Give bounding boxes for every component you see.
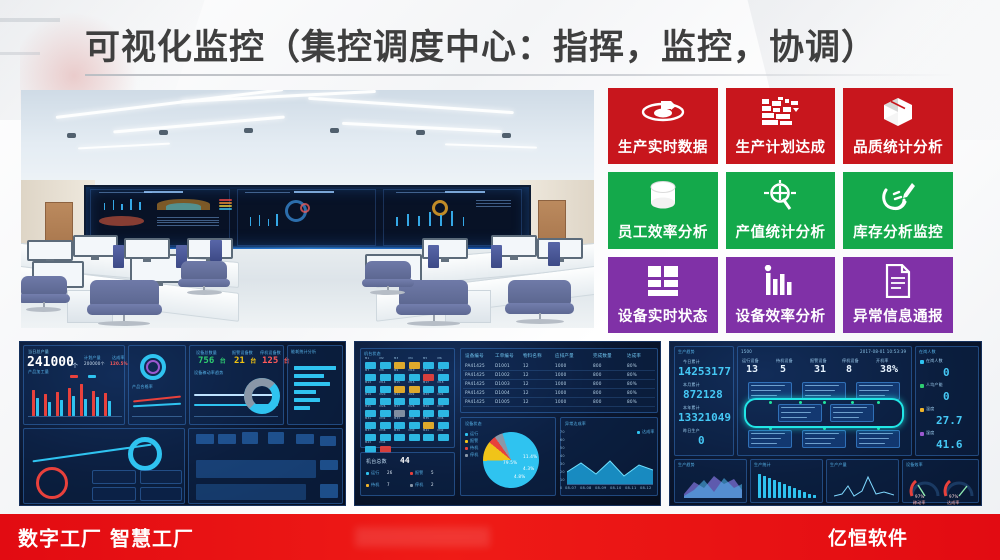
top-metric-value: 38%: [880, 364, 898, 375]
top-metric-value: 5: [780, 364, 786, 375]
machine-status-cell-label: M17: [423, 381, 429, 384]
pie-slice-label: 4.3%: [523, 466, 534, 471]
output-unit: 个: [72, 361, 78, 370]
machine-status-cell-label: M42: [438, 429, 444, 432]
tile-equipment-efficiency-analysis[interactable]: 设备效率分析: [726, 257, 836, 333]
table-row-divider: [463, 397, 655, 398]
machine-status-cell-label: M19: [365, 393, 371, 396]
ceiling-speaker: [159, 130, 168, 135]
pie-legend-swatch: [465, 454, 468, 457]
kpi-label-2: 停机设备数: [260, 350, 281, 356]
mini-bar: [798, 490, 801, 498]
machine-status-cell[interactable]: [394, 386, 405, 393]
dash3-timestamp: 2017-08-01 10:53:39: [860, 349, 906, 354]
legend-value-3: 2: [431, 482, 434, 487]
machine-status-cell-label: M22: [409, 393, 415, 396]
machine-status-cell[interactable]: [380, 386, 391, 393]
machine-status-cell-label: M34: [409, 417, 415, 420]
monitor: [124, 238, 170, 259]
machine-status-cell-label: M44: [380, 441, 386, 444]
machine-status-dashboard: 机台状态 M1M2M3M4M5M6M7M8M9M10M11M12M13M14M1…: [354, 341, 661, 506]
machine-status-cell-label: M18: [438, 381, 444, 384]
chart-title-1: 生产统计: [754, 462, 771, 468]
left-panel-title: 生产趋势: [678, 349, 695, 355]
monitor: [73, 235, 119, 256]
mini-bar: [773, 480, 776, 498]
mini-bar: [803, 492, 806, 498]
area-chart-svg: [567, 454, 653, 484]
machine-status-cell-label: M2: [380, 357, 384, 360]
chart-title-3: 设备效率: [906, 462, 923, 468]
area-y-tick: 10: [560, 478, 565, 482]
office-chair: [90, 280, 159, 323]
left-metric-value-3: 0: [698, 434, 705, 447]
machine-status-cell-label: M28: [409, 405, 415, 408]
machine-status-cell-label: M39: [394, 429, 400, 432]
machine-status-cell-label: M38: [380, 429, 386, 432]
table-cell: 12: [523, 363, 529, 368]
machine-status-cell-label: M43: [365, 441, 371, 444]
machine-status-cell-label: M6: [438, 357, 442, 360]
office-chair: [508, 280, 571, 320]
left-metric-value-1: 872128: [683, 388, 723, 401]
machine-status-cell[interactable]: [394, 422, 405, 429]
area-y-tick: 70: [560, 430, 565, 434]
table-cell: PA41425: [465, 381, 485, 386]
area-title: 异常达成率: [565, 421, 586, 427]
machine-status-cell[interactable]: [394, 362, 405, 369]
area-y-tick: 60: [560, 438, 565, 442]
title-underline: [85, 74, 955, 76]
mini-bar: [783, 484, 786, 498]
machine-status-cell-label: M29: [423, 405, 429, 408]
left-metric-value-0: 14253177: [678, 365, 731, 378]
area-legend: 达成率: [642, 429, 655, 435]
machine-status-cell[interactable]: [365, 362, 376, 369]
tile-abnormal-info-notification[interactable]: 异常信息通报: [843, 257, 953, 333]
bar-chart-icon: [726, 257, 836, 305]
brick-blocks-icon: [726, 88, 836, 136]
table-cell: 80%: [627, 372, 637, 377]
machine-status-cell[interactable]: [438, 398, 449, 405]
monitor: [27, 240, 73, 261]
area-y-tick: 40: [560, 454, 565, 458]
table-cell: 1000: [555, 381, 566, 386]
desk-divider: [491, 245, 502, 269]
mini-bar: [793, 488, 796, 498]
machine-status-cell[interactable]: [423, 422, 434, 429]
desk-divider: [428, 245, 439, 269]
table-header-cell: 应排产量: [555, 353, 574, 359]
mini-bar: [778, 482, 781, 498]
machine-status-cell-label: M3: [394, 357, 398, 360]
table-cell: 12: [523, 381, 529, 386]
tile-label: 设备实时状态: [618, 305, 708, 326]
pie-slice-label: 79.5%: [503, 460, 517, 465]
tile-quality-statistics-analysis[interactable]: 品质统计分析: [843, 88, 953, 164]
machine-status-cell[interactable]: [423, 434, 434, 441]
section-title-3: 能耗统计分析: [291, 349, 316, 355]
machine-status-cell[interactable]: [380, 410, 391, 417]
table-cell: D1002: [495, 372, 510, 377]
gauge-value-1: 97%: [949, 494, 959, 499]
machine-status-cell-label: M7: [365, 369, 369, 372]
table-cell: PA41425: [465, 372, 485, 377]
machine-status-cell[interactable]: [423, 410, 434, 417]
legend-value-0: 26: [387, 470, 393, 475]
tile-label: 生产计划达成: [735, 136, 825, 157]
desk-divider: [548, 242, 559, 266]
mini-bar: [788, 486, 791, 498]
chart-title-2: 生产产量: [830, 462, 847, 468]
machine-status-cell[interactable]: [394, 410, 405, 417]
machine-status-cell[interactable]: [438, 422, 449, 429]
office-chair: [21, 276, 67, 309]
page-title: 可视化监控（集控调度中心：指挥，监控，协调）: [85, 28, 955, 68]
tile-employee-efficiency-analysis[interactable]: 员工效率分析: [608, 172, 718, 248]
kpi-value-0: 756 台: [198, 356, 226, 366]
machine-status-cell-label: M24: [438, 393, 444, 396]
chart-title-0: 生产趋势: [678, 462, 695, 468]
machine-status-cell[interactable]: [409, 434, 420, 441]
machine-status-cell-label: M41: [423, 429, 429, 432]
right-panel-title: 在岗人数: [919, 349, 936, 355]
left-metric-value-2: 13321049: [678, 411, 731, 424]
machine-status-cell-label: M26: [380, 405, 386, 408]
total-value: 44: [400, 456, 410, 465]
cylinder-db-icon: [608, 172, 718, 220]
database-disc-icon: [608, 88, 718, 136]
area-y-tick: 0: [560, 486, 562, 490]
table-cell: PA41425: [465, 399, 485, 404]
machine-status-cell[interactable]: [423, 374, 434, 381]
pie-legend-label: 运行: [470, 431, 478, 437]
footer-watermark: [355, 527, 490, 547]
machine-status-cell-label: M4: [409, 357, 413, 360]
watermark-tick-1: [0, 18, 60, 22]
footer-bar: 数字工厂 智慧工厂 亿恒软件: [0, 514, 1000, 560]
table-cell: 80%: [627, 399, 637, 404]
watermark-tick-2: [0, 52, 40, 55]
gauge-left: [908, 470, 942, 500]
table-row-divider: [463, 379, 655, 380]
ceiling-speaker: [244, 128, 253, 133]
machine-status-cell[interactable]: [438, 374, 449, 381]
right-metric-label-2: 温度: [926, 406, 934, 412]
machine-status-cell-label: M21: [394, 393, 400, 396]
right-metric-value-1: 0: [943, 390, 950, 403]
machine-status-cell[interactable]: [423, 386, 434, 393]
table-cell: 800: [593, 399, 602, 404]
machine-status-cell[interactable]: [438, 362, 449, 369]
table-cell: 1000: [555, 372, 566, 377]
machine-status-cell-label: M33: [394, 417, 400, 420]
machine-status-cell[interactable]: [380, 374, 391, 381]
machine-status-cell[interactable]: [409, 410, 420, 417]
table-row-divider: [463, 388, 655, 389]
table-cell: 800: [593, 363, 602, 368]
legend-label-0: 运行: [371, 470, 379, 476]
machine-status-cell[interactable]: [365, 374, 376, 381]
top-metric-value: 31: [814, 364, 826, 375]
machine-status-cell[interactable]: [438, 410, 449, 417]
table-header-cell: 完成数量: [593, 353, 612, 359]
area-x-tick: 08-09: [595, 486, 606, 490]
feature-tile-grid: 生产实时数据 生: [608, 88, 953, 333]
dash3-header: 1500: [741, 349, 752, 354]
desk-divider: [113, 245, 124, 269]
area-y-tick: 50: [560, 446, 565, 450]
tile-equipment-realtime-status[interactable]: 设备实时状态: [608, 257, 718, 333]
pie-title: 设备状态: [465, 421, 482, 427]
table-cell: D1003: [495, 381, 510, 386]
right-metric-label-0: 在岗人数: [926, 358, 943, 364]
pie-legend-label: 待机: [470, 445, 478, 451]
office-chair: [181, 261, 227, 292]
machine-status-cell-label: M16: [409, 381, 415, 384]
kpi-value-1: 21 台: [234, 356, 256, 366]
mini-bar: [808, 494, 811, 498]
area-x-tick: 08-08: [580, 486, 591, 490]
pie-legend-swatch: [465, 440, 468, 443]
right-metric-value-2: 27.7: [936, 414, 963, 427]
machine-status-cell[interactable]: [394, 398, 405, 405]
mini-bar: [768, 478, 771, 498]
tile-label: 异常信息通报: [853, 305, 943, 326]
machine-status-cell[interactable]: [380, 422, 391, 429]
table-cell: D1005: [495, 399, 510, 404]
mini-bar: [813, 495, 816, 498]
gauge-value-0: 97%: [915, 494, 925, 499]
area-x-tick: 08-07: [565, 486, 576, 490]
machine-status-cell[interactable]: [423, 362, 434, 369]
machine-status-cell-label: M23: [423, 393, 429, 396]
mini-area-chart: [684, 472, 742, 498]
machine-status-cell-label: M37: [365, 429, 371, 432]
magnifier-target-icon: [726, 172, 836, 220]
machine-status-cell[interactable]: [409, 362, 420, 369]
machine-status-cell-label: M32: [380, 417, 386, 420]
footer-right-text: 亿恒软件: [828, 524, 908, 551]
table-cell: PA41425: [465, 363, 485, 368]
machine-status-cell[interactable]: [380, 398, 391, 405]
right-metric-value-0: 0: [943, 366, 950, 379]
machine-status-cell[interactable]: [409, 374, 420, 381]
table-cell: 12: [523, 372, 529, 377]
target-value: 200000个: [84, 361, 105, 367]
mini-line-chart: [834, 472, 894, 498]
tile-production-realtime-data[interactable]: 生产实时数据: [608, 88, 718, 164]
pie-legend-swatch: [465, 447, 468, 450]
table-cell: 800: [593, 390, 602, 395]
machine-status-cell-label: M8: [380, 369, 384, 372]
rate-value: 120.5%: [110, 361, 128, 366]
top-metric-value: 13: [746, 364, 758, 375]
gauge-label-1: 达成率: [947, 500, 960, 506]
machine-status-cell[interactable]: [438, 434, 449, 441]
machine-status-cell[interactable]: [365, 434, 376, 441]
table-cell: 80%: [627, 363, 637, 368]
gauge-label-0: 稼动率: [913, 500, 926, 506]
machine-status-cell-label: M10: [409, 369, 415, 372]
legend-label-1: 报警: [415, 470, 423, 476]
machine-status-cell-label: M20: [380, 393, 386, 396]
table-cell: D1001: [495, 363, 510, 368]
mini-bar: [763, 476, 766, 498]
machine-status-cell-label: M12: [438, 369, 444, 372]
ceiling-speaker: [416, 130, 425, 135]
highlight-outline: [744, 398, 904, 428]
top-metric-value: 8: [846, 364, 852, 375]
machine-status-cell[interactable]: [409, 386, 420, 393]
table-cell: 800: [593, 372, 602, 377]
machine-status-cell[interactable]: [438, 386, 449, 393]
kpi-value-2: 125 台: [262, 356, 290, 366]
total-label: 机台总数: [366, 458, 387, 465]
table-cell: PA41425: [465, 390, 485, 395]
table-row-divider: [463, 406, 655, 407]
hand-pen-icon: [843, 172, 953, 220]
machine-status-cell-label: M13: [365, 381, 371, 384]
kpi-label-1: 报警设备数: [232, 350, 253, 356]
tile-label: 设备效率分析: [735, 305, 825, 326]
grid-tiles-icon: [608, 257, 718, 305]
machine-status-cell[interactable]: [365, 386, 376, 393]
tile-output-value-statistics[interactable]: 产值统计分析: [726, 172, 836, 248]
machine-status-cell[interactable]: [380, 434, 391, 441]
ceiling-speaker: [502, 133, 511, 138]
machine-status-cell-label: M5: [423, 357, 427, 360]
machine-status-cell-label: M14: [380, 381, 386, 384]
pie-legend-label: 报警: [470, 438, 478, 444]
machine-status-cell[interactable]: [380, 362, 391, 369]
production-overview-dashboard: 当日总产量 241000 个 计划产量 200000个 达成率 120.5% 产…: [19, 341, 346, 506]
area-x-tick: 08-11: [625, 486, 636, 490]
pie-legend-label: 停机: [470, 452, 478, 458]
chart-title: 产品加工量: [28, 369, 49, 375]
page-title-block: 可视化监控（集控调度中心：指挥，监控，协调）: [85, 28, 955, 76]
machine-status-cell-label: M25: [365, 405, 371, 408]
tile-label: 员工效率分析: [618, 221, 708, 242]
area-y-tick: 30: [560, 462, 565, 466]
machine-status-cell-label: M9: [394, 369, 398, 372]
mini-bar: [758, 474, 761, 498]
kpi-label-0: 设备总数量: [196, 350, 217, 356]
right-metric-label-3: 湿度: [926, 430, 934, 436]
tile-label: 品质统计分析: [853, 136, 943, 157]
table-cell: 1000: [555, 363, 566, 368]
table-cell: 80%: [627, 381, 637, 386]
energy-production-dashboard: 生产趋势 今日累计 14253177 本月累计 872128 本年累计 1332…: [669, 341, 982, 506]
gauge-right: [942, 470, 976, 500]
cube-box-icon: [843, 88, 953, 136]
desk-divider: [210, 240, 221, 261]
machine-status-cell-label: M36: [438, 417, 444, 420]
table-header-cell: 物料名称: [523, 353, 542, 359]
monitor: [537, 238, 583, 259]
ceiling-speaker: [67, 133, 76, 138]
table-cell: 800: [593, 381, 602, 386]
slide-root: 可视化监控（集控调度中心：指挥，监控，协调）: [0, 0, 1000, 560]
area-x-tick: 08-10: [610, 486, 621, 490]
machine-status-cell[interactable]: [365, 398, 376, 405]
table-header-cell: 达成率: [627, 353, 641, 359]
pie-slice-label: 4.8%: [514, 474, 525, 479]
machine-status-cell[interactable]: [394, 374, 405, 381]
table-header-cell: 工单编号: [495, 353, 514, 359]
right-metric-value-3: 41.6: [936, 438, 963, 451]
tile-label: 产值统计分析: [735, 221, 825, 242]
office-chair: [365, 261, 411, 292]
machine-status-cell-label: M35: [423, 417, 429, 420]
pie-legend-swatch: [465, 433, 468, 436]
machine-status-cell-label: M1: [365, 357, 369, 360]
table-header-cell: 设备编号: [465, 353, 484, 359]
legend-value-1: 5: [431, 470, 434, 475]
machine-status-cell-label: M11: [423, 369, 429, 372]
table-cell: 12: [523, 399, 529, 404]
machine-status-cell[interactable]: [365, 410, 376, 417]
machine-status-cell[interactable]: [365, 422, 376, 429]
table-cell: 80%: [627, 390, 637, 395]
machine-status-cell[interactable]: [394, 434, 405, 441]
tile-label: 生产实时数据: [618, 136, 708, 157]
output-value: 241000: [27, 355, 74, 370]
machine-status-cell-label: M30: [438, 405, 444, 408]
machine-status-cell[interactable]: [409, 422, 420, 429]
line-title: 产品合格率: [132, 384, 153, 390]
table-row-divider: [463, 370, 655, 371]
document-lines-icon: [843, 257, 953, 305]
machine-status-cell[interactable]: [423, 398, 434, 405]
machine-status-cell-label: M31: [365, 417, 371, 420]
area-y-tick: 20: [560, 470, 565, 474]
machine-status-cell-label: M27: [394, 405, 400, 408]
area-x-tick: 08-12: [640, 486, 651, 490]
table-cell: 12: [523, 390, 529, 395]
legend-value-2: 7: [387, 482, 390, 487]
table-cell: D1004: [495, 390, 510, 395]
table-cell: 1000: [555, 390, 566, 395]
ceiling-speaker: [330, 128, 339, 133]
machine-status-cell-label: M15: [394, 381, 400, 384]
footer-left-text: 数字工厂 智慧工厂: [18, 523, 194, 552]
tile-inventory-analysis-monitoring[interactable]: 库存分析监控: [843, 172, 953, 248]
ceiling: [21, 90, 594, 188]
control-room-photo: [21, 90, 594, 328]
tile-production-plan-achievement[interactable]: 生产计划达成: [726, 88, 836, 164]
machine-status-cell-label: M40: [409, 429, 415, 432]
pie-slice-label: 11.4%: [523, 454, 537, 459]
legend-label-2: 待机: [371, 482, 379, 488]
legend-label-3: 停机: [415, 482, 423, 488]
machine-status-cell[interactable]: [409, 398, 420, 405]
section-title-2: 设备稼动率趋势: [194, 370, 223, 376]
table-cell: 1000: [555, 399, 566, 404]
right-metric-label-1: 人均产能: [926, 382, 943, 388]
tile-label: 库存分析监控: [853, 221, 943, 242]
